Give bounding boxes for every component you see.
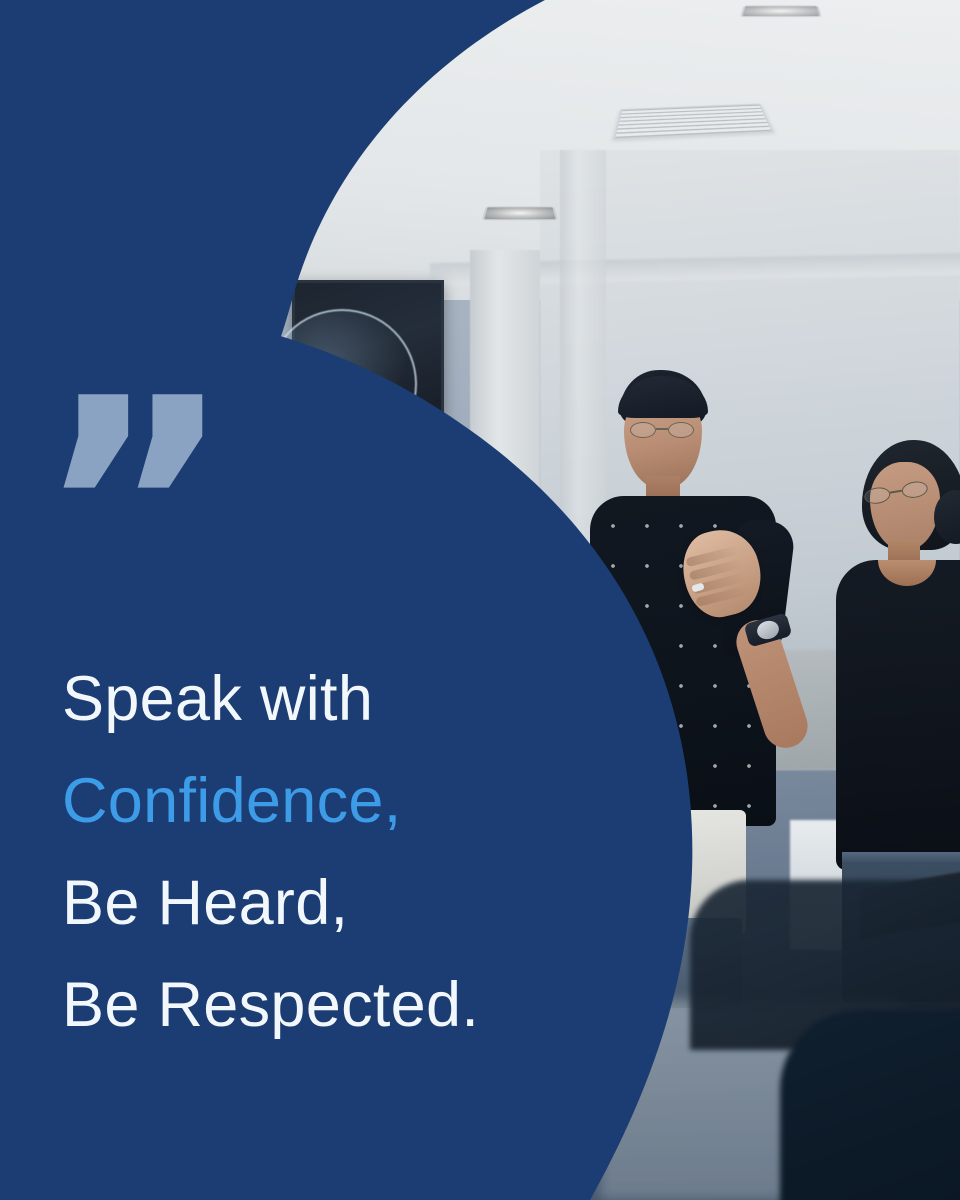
poster-canvas: ” Speak with Confidence, Be Heard, Be Re… — [0, 0, 960, 1200]
headline: Speak with Confidence, Be Heard, Be Resp… — [62, 648, 682, 1056]
glasses-icon — [628, 422, 700, 438]
waistband — [842, 852, 960, 864]
headline-line-1: Speak with — [62, 648, 682, 750]
headline-line-4: Be Respected. — [62, 954, 682, 1056]
torso — [836, 560, 960, 870]
wall-artwork — [292, 280, 444, 432]
headline-line-2: Confidence, — [62, 750, 682, 852]
artwork-sphere — [267, 309, 417, 459]
footer: E NSPIRE CADEMY ® Making Success a Habit… — [0, 1070, 960, 1200]
headline-line-3: Be Heard, — [62, 852, 682, 954]
downlight-icon — [482, 206, 558, 220]
downlight-icon-2 — [740, 5, 822, 17]
quote-mark-icon: ” — [36, 360, 227, 660]
